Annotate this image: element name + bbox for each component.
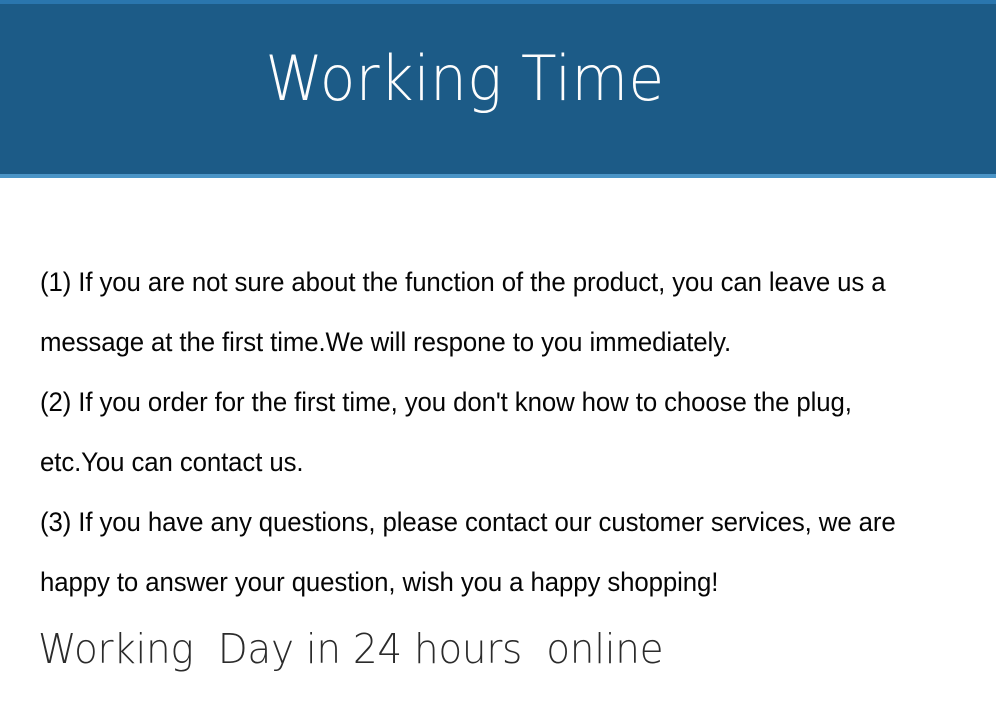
policy-line: (3) If you have any questions, please co… (40, 492, 928, 552)
policy-line: (1) If you are not sure about the functi… (40, 252, 928, 312)
policy-text-block: (1) If you are not sure about the functi… (40, 252, 970, 612)
policy-line: (2) If you order for the first time, you… (40, 372, 928, 432)
working-hours-statement: Working Day in 24 hours online (38, 618, 663, 680)
header-top-rule (0, 0, 1000, 4)
policy-line: etc.You can contact us. (40, 432, 928, 492)
policy-line: happy to answer your question, wish you … (40, 552, 928, 612)
header-right-edge (996, 0, 1000, 178)
policy-line: message at the first time.We will respon… (40, 312, 928, 372)
page-title: Working Time (28, 46, 902, 111)
working-time-banner-page: Working Time (1) If you are not sure abo… (0, 0, 1000, 724)
header-bottom-rule (0, 174, 1000, 178)
header-banner: Working Time (0, 0, 1000, 178)
